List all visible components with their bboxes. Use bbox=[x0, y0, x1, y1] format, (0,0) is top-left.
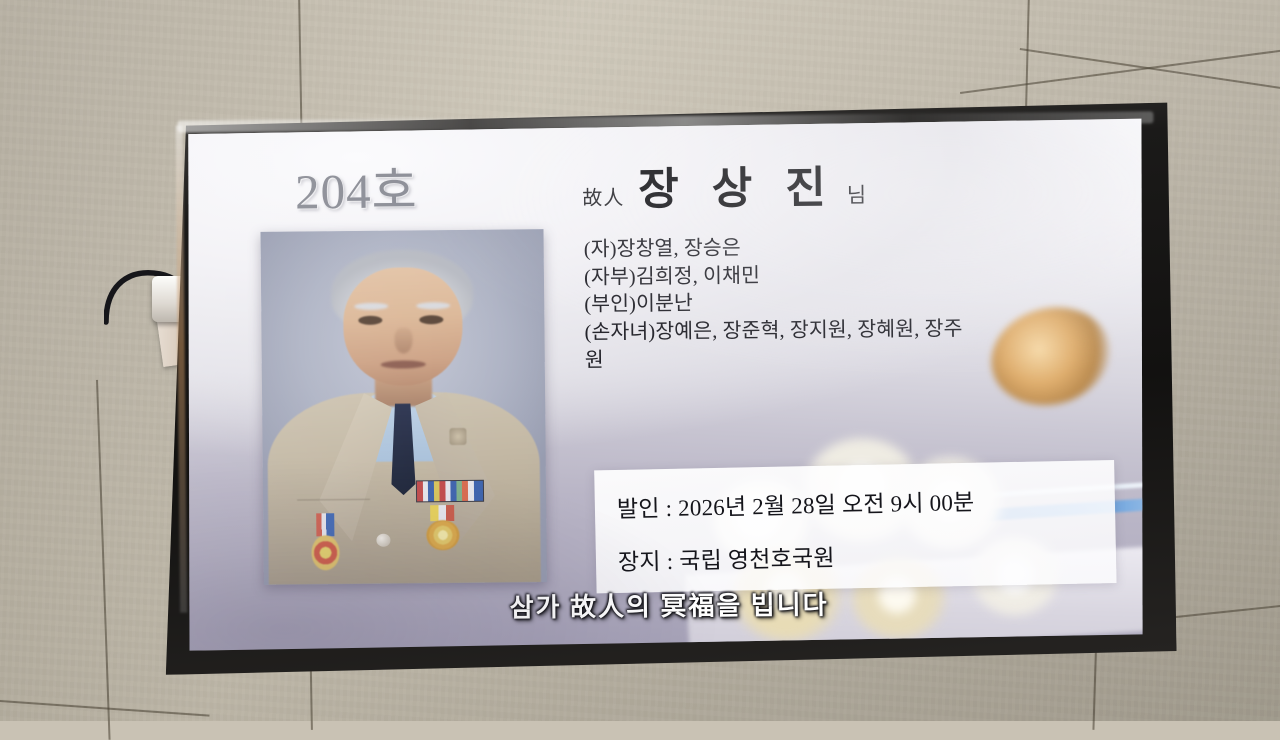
departure-info: 발인 : 2026년 2월 28일 오전 9시 00분 bbox=[616, 480, 1114, 524]
burial-site-info: 장지 : 국립 영천호국원 bbox=[617, 533, 1115, 577]
medal-ribbon bbox=[316, 513, 334, 536]
medal-large bbox=[424, 505, 461, 551]
medal-star bbox=[311, 535, 340, 570]
medal-small bbox=[311, 513, 340, 570]
deceased-name-line: 故人 장 상 진 님 bbox=[582, 151, 866, 218]
service-ribbon-bar bbox=[415, 480, 483, 503]
tile-seam bbox=[1020, 48, 1280, 91]
family-members-list: (자)장창열, 장승은 (자부)김희정, 이채민 (부인)이분난 (손자녀)장예… bbox=[584, 231, 1102, 375]
family-line-grandchildren-overflow: 원 bbox=[585, 343, 1102, 376]
name-prefix-label: 故人 bbox=[582, 181, 624, 210]
tile-seam bbox=[0, 700, 209, 716]
medal-star bbox=[427, 520, 460, 551]
name-honorific-suffix: 님 bbox=[847, 179, 867, 209]
condolence-caption: 삼가 故人의 冥福을 빕니다 bbox=[509, 584, 828, 624]
wall-mounted-television[interactable]: 204호 故人 장 상 진 님 (자)장창열, 장승은 (자부)김희정, 이채민… bbox=[155, 99, 1176, 675]
tile-seam bbox=[960, 49, 1280, 94]
deceased-portrait-photo bbox=[260, 229, 547, 585]
medal-ribbon bbox=[430, 505, 454, 521]
collar-emblem bbox=[449, 427, 466, 445]
room-number: 204호 bbox=[295, 152, 418, 224]
funeral-info-panel: 발인 : 2026년 2월 28일 오전 9시 00분 장지 : 국립 영천호국… bbox=[594, 460, 1116, 593]
tile-seam bbox=[96, 380, 110, 740]
tv-screen[interactable]: 204호 故人 장 상 진 님 (자)장창열, 장승은 (자부)김희정, 이채민… bbox=[184, 119, 1146, 651]
deceased-name: 장 상 진 bbox=[638, 151, 837, 217]
